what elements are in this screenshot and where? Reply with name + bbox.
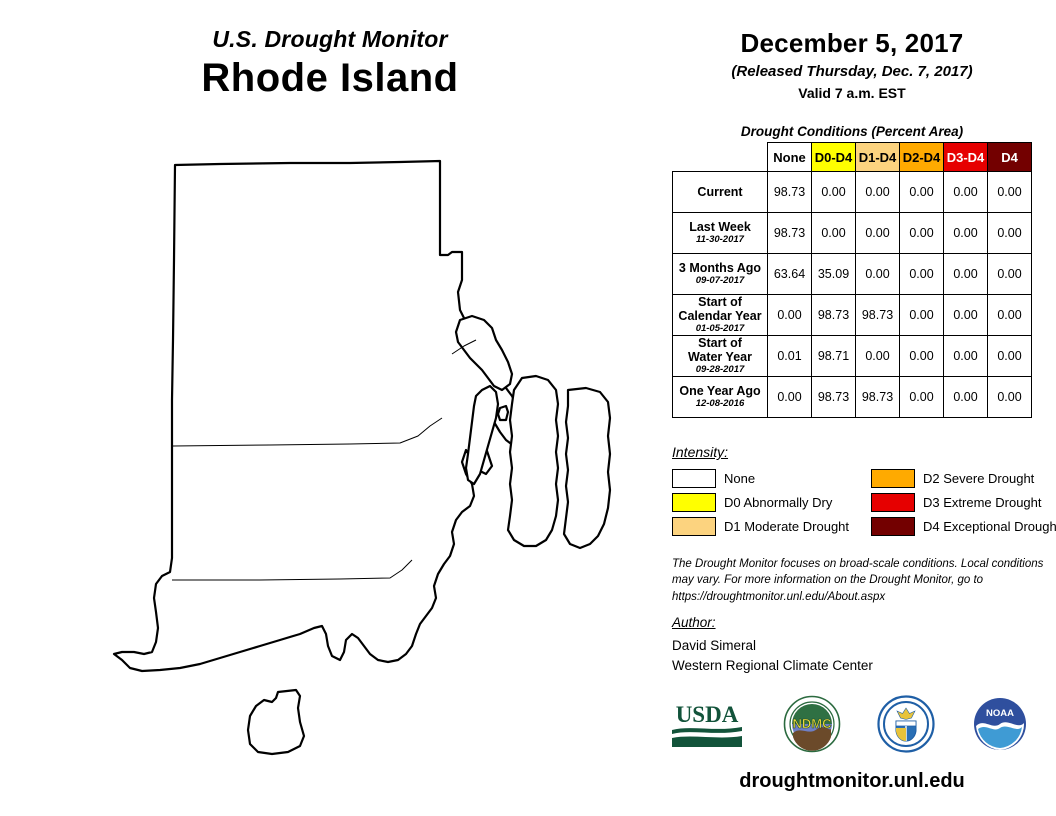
program-title: U.S. Drought Monitor [0, 26, 660, 53]
logo-row: USDA NDMC NOAA [668, 692, 1028, 756]
table-cell-value: 0.00 [900, 172, 944, 213]
row-label: One Year Ago12-08-2016 [673, 377, 768, 418]
table-cell-value: 0.00 [944, 377, 988, 418]
table-cell-value: 0.00 [988, 377, 1032, 418]
legend-label: D1 Moderate Drought [724, 519, 849, 534]
row-label-date: 01-05-2017 [673, 324, 767, 335]
row-label: Start ofCalendar Year01-05-2017 [673, 295, 768, 336]
disclaimer-text: The Drought Monitor focuses on broad-sca… [672, 556, 1044, 605]
author-block: David Simeral Western Regional Climate C… [672, 636, 873, 677]
little-compton-peninsula [564, 388, 610, 548]
legend-label: None [724, 471, 755, 486]
table-cell-value: 0.01 [768, 336, 812, 377]
map-svg [100, 140, 640, 800]
row-label-date: 12-08-2016 [673, 399, 767, 410]
legend-swatch [871, 517, 915, 536]
release-date: (Released Thursday, Dec. 7, 2017) [672, 63, 1032, 80]
legend-item: D4 Exceptional Drought [871, 514, 1056, 538]
legend-item: D2 Severe Drought [871, 466, 1056, 490]
table-cell-value: 98.73 [768, 213, 812, 254]
usda-logo: USDA [668, 698, 746, 750]
legend-label: D4 Exceptional Drought [923, 519, 1056, 534]
noaa-logo: NOAA [972, 696, 1028, 752]
table-cell-value: 0.00 [900, 295, 944, 336]
row-label: 3 Months Ago09-07-2017 [673, 254, 768, 295]
table-cell-value: 0.00 [944, 254, 988, 295]
column-header-d2d4: D2-D4 [900, 143, 944, 172]
legend-swatch [672, 469, 716, 488]
table-cell-value: 0.00 [768, 377, 812, 418]
intensity-legend: NoneD2 Severe DroughtD0 Abnormally DryD3… [672, 466, 1037, 538]
table-row: Current98.730.000.000.000.000.00 [673, 172, 1032, 213]
page-title: Rhode Island [0, 56, 660, 101]
row-label: Current [673, 172, 768, 213]
column-header-d3d4: D3-D4 [944, 143, 988, 172]
legend-swatch [672, 493, 716, 512]
legend-item: None [672, 466, 849, 490]
legend-item: D0 Abnormally Dry [672, 490, 849, 514]
prudence-island [498, 406, 508, 420]
table-cell-value: 98.73 [812, 377, 856, 418]
table-cell-value: 0.00 [944, 295, 988, 336]
table-caption: Drought Conditions (Percent Area) [672, 124, 1032, 139]
table-cell-value: 0.00 [944, 213, 988, 254]
usdc-seal-logo [877, 695, 935, 753]
footer-url: droughtmonitor.unl.edu [672, 770, 1032, 793]
table-cell-value: 63.64 [768, 254, 812, 295]
state-outline-mainland [114, 161, 526, 671]
legend-label: D3 Extreme Drought [923, 495, 1042, 510]
table-cell-value: 0.00 [856, 172, 900, 213]
svg-text:USDA: USDA [676, 702, 739, 727]
legend-swatch [871, 493, 915, 512]
table-cell-value: 0.00 [988, 172, 1032, 213]
drought-conditions-table: None D0-D4 D1-D4 D2-D4 D3-D4 D4 Current9… [672, 142, 1032, 418]
table-row: Start ofCalendar Year01-05-20170.0098.73… [673, 295, 1032, 336]
table-cell-value: 98.73 [812, 295, 856, 336]
intensity-heading: Intensity: [672, 444, 728, 460]
table-cell-value: 98.73 [768, 172, 812, 213]
row-label-date: 11-30-2017 [673, 235, 767, 246]
author-heading: Author: [672, 615, 716, 630]
table-cell-value: 98.73 [856, 295, 900, 336]
table-row: Last Week11-30-201798.730.000.000.000.00… [673, 213, 1032, 254]
table-cell-value: 0.00 [900, 377, 944, 418]
table-cell-value: 35.09 [812, 254, 856, 295]
row-label: Start ofWater Year09-28-2017 [673, 336, 768, 377]
table-cell-value: 0.00 [900, 254, 944, 295]
legend-item: D3 Extreme Drought [871, 490, 1056, 514]
row-label-date: 09-07-2017 [673, 276, 767, 287]
table-cell-value: 0.00 [988, 254, 1032, 295]
table-cell-value: 0.00 [812, 172, 856, 213]
table-cell-value: 0.00 [812, 213, 856, 254]
table-cell-value: 0.00 [856, 213, 900, 254]
date-block: December 5, 2017 (Released Thursday, Dec… [672, 28, 1032, 101]
table-cell-value: 98.71 [812, 336, 856, 377]
row-label: Last Week11-30-2017 [673, 213, 768, 254]
legend-swatch [871, 469, 915, 488]
table-cell-value: 0.00 [900, 213, 944, 254]
table-cell-value: 0.00 [988, 336, 1032, 377]
table-row: Start ofWater Year09-28-20170.0198.710.0… [673, 336, 1032, 377]
legend-label: D2 Severe Drought [923, 471, 1034, 486]
valid-date: December 5, 2017 [672, 28, 1032, 59]
legend-label: D0 Abnormally Dry [724, 495, 832, 510]
table-cell-value: 0.00 [944, 172, 988, 213]
rhode-island-map [100, 140, 640, 800]
author-name: David Simeral [672, 636, 873, 656]
table-header-row: None D0-D4 D1-D4 D2-D4 D3-D4 D4 [673, 143, 1032, 172]
ndmc-logo: NDMC [783, 695, 841, 753]
table-cell-value: 0.00 [856, 336, 900, 377]
title-block: U.S. Drought Monitor Rhode Island [0, 26, 660, 101]
table-cell-value: 0.00 [768, 295, 812, 336]
table-cell-value: 0.00 [900, 336, 944, 377]
column-header-d0d4: D0-D4 [812, 143, 856, 172]
author-affiliation: Western Regional Climate Center [672, 656, 873, 676]
table-cell-value: 98.73 [856, 377, 900, 418]
table-cell-value: 0.00 [944, 336, 988, 377]
column-header-none: None [768, 143, 812, 172]
row-label-date: 09-28-2017 [673, 365, 767, 376]
valid-time: Valid 7 a.m. EST [672, 85, 1032, 101]
legend-item: D1 Moderate Drought [672, 514, 849, 538]
table-row: 3 Months Ago09-07-201763.6435.090.000.00… [673, 254, 1032, 295]
column-header-d1d4: D1-D4 [856, 143, 900, 172]
table-corner-cell [673, 143, 768, 172]
table-cell-value: 0.00 [988, 295, 1032, 336]
column-header-d4: D4 [988, 143, 1032, 172]
block-island [248, 690, 304, 754]
legend-swatch [672, 517, 716, 536]
table-cell-value: 0.00 [988, 213, 1032, 254]
table-row: One Year Ago12-08-20160.0098.7398.730.00… [673, 377, 1032, 418]
svg-text:NDMC: NDMC [792, 716, 832, 731]
table-body: Current98.730.000.000.000.000.00Last Wee… [673, 172, 1032, 418]
table-cell-value: 0.00 [856, 254, 900, 295]
svg-text:NOAA: NOAA [986, 708, 1014, 719]
aquidneck-island [508, 376, 558, 546]
